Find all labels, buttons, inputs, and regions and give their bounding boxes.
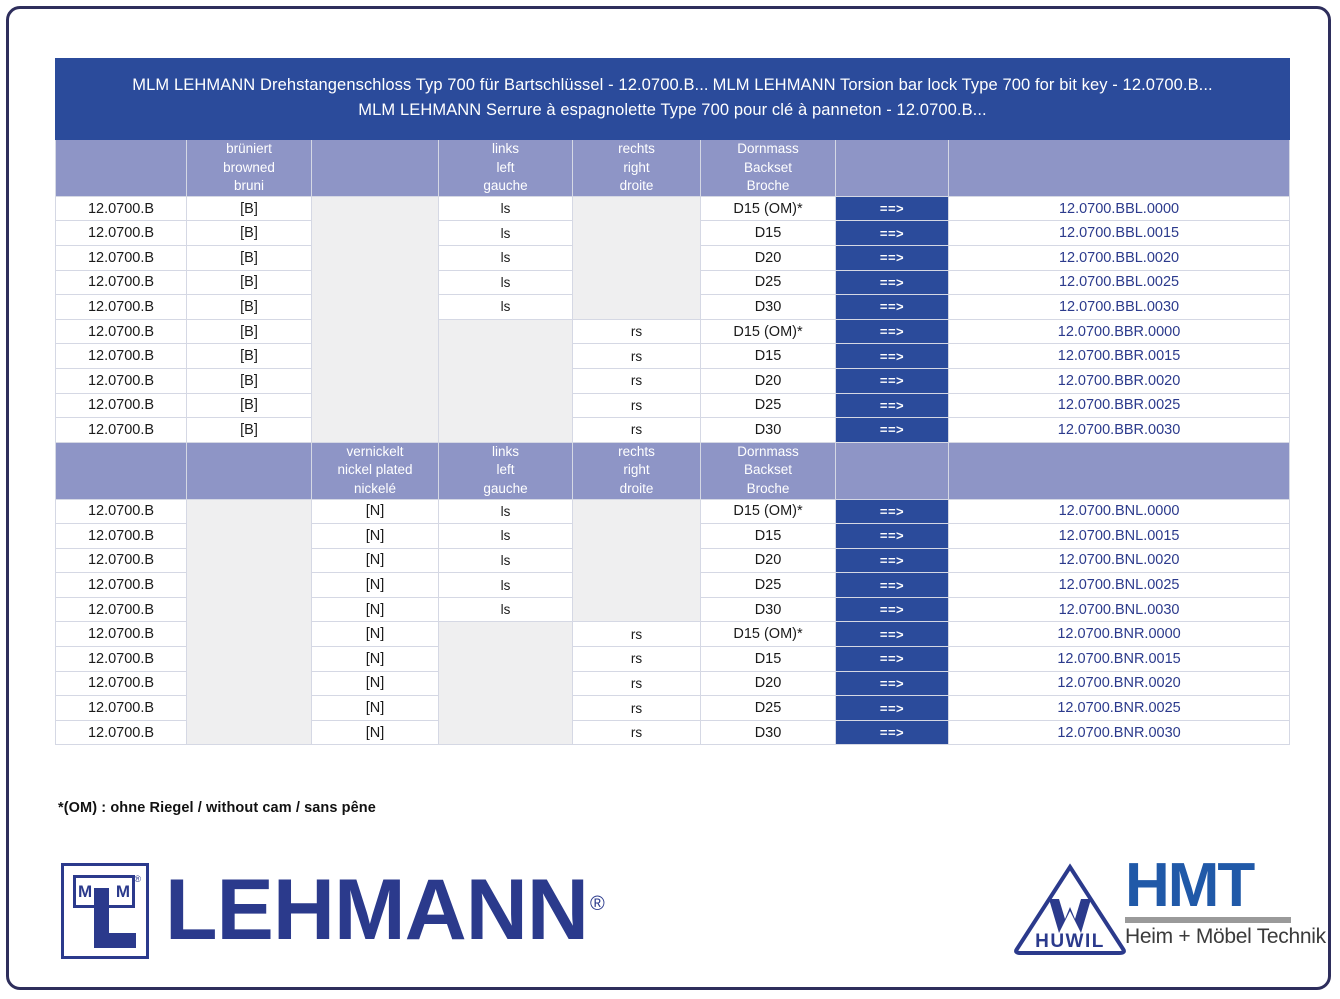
header-cell-arrow-blank-s2 [836,442,949,499]
cell-backset: D15 [701,344,836,369]
cell-article: 12.0700.B [56,499,187,524]
cell-side-right: rs [573,696,701,721]
hmt-wordmark-text: HMT [1125,857,1291,916]
cell-article: 12.0700.B [56,393,187,418]
header-cell-finish-nickel: vernickelt nickel plated nickelé [312,442,439,499]
cell-backset: D25 [701,696,836,721]
header-cell-right-s2: rechts right droite [573,442,701,499]
header-backset-fr: Broche [701,177,835,196]
cell-backset: D25 [701,393,836,418]
cell-article: 12.0700.B [56,647,187,672]
table-row: 12.0700.B [B] rs D15 ==> 12.0700.BBR.001… [56,344,1290,369]
table-row: 12.0700.B [B] rs D25 ==> 12.0700.BBR.002… [56,393,1290,418]
cell-side-right: rs [573,368,701,393]
cell-backset: D20 [701,548,836,573]
cell-finish-code: [B] [187,344,312,369]
cell-backset: D30 [701,418,836,443]
table-row: 12.0700.B [B] rs D15 (OM)* ==> 12.0700.B… [56,319,1290,344]
table-row: 12.0700.B [B] ls D15 (OM)* ==> 12.0700.B… [56,196,1290,221]
header-backset-de: Dornmass [701,140,835,159]
hmt-wordmark-block: HMT Heim + Möbel Technik [1125,857,1291,961]
header-right-en: right [573,461,700,480]
header-finish-de: brüniert [187,140,311,159]
cell-article: 12.0700.B [56,319,187,344]
header-cell-right-s1: rechts right droite [573,140,701,197]
goto-arrow-button[interactable]: ==> [836,597,949,622]
header-left-en: left [439,159,572,178]
cell-backset: D30 [701,720,836,745]
title-banner: MLM LEHMANN Drehstangenschloss Typ 700 f… [56,59,1290,140]
goto-arrow-button[interactable]: ==> [836,245,949,270]
header-left-de: links [439,140,572,159]
header-cell-backset-s2: Dornmass Backset Broche [701,442,836,499]
cell-full-article-code[interactable]: 12.0700.BBR.0015 [949,344,1290,369]
cell-right-inactive-s1 [573,196,701,319]
cell-finish-code: [N] [312,573,439,598]
cell-backset: D30 [701,597,836,622]
cell-full-article-code[interactable]: 12.0700.BNR.0030 [949,720,1290,745]
cell-article: 12.0700.B [56,622,187,647]
cell-full-article-code[interactable]: 12.0700.BNL.0000 [949,499,1290,524]
section-header-nickel: vernickelt nickel plated nickelé links l… [56,442,1290,499]
title-line-de: MLM LEHMANN Drehstangenschloss Typ 700 f… [132,76,708,94]
cell-full-article-code[interactable]: 12.0700.BNL.0025 [949,573,1290,598]
cell-article: 12.0700.B [56,245,187,270]
header-backset-en: Backset [701,159,835,178]
cell-full-article-code[interactable]: 12.0700.BNR.0020 [949,671,1290,696]
header-backset-en: Backset [701,461,835,480]
cell-finish-code: [B] [187,368,312,393]
cell-article: 12.0700.B [56,671,187,696]
cell-article: 12.0700.B [56,270,187,295]
cell-full-article-code[interactable]: 12.0700.BBR.0000 [949,319,1290,344]
header-left-fr: gauche [439,480,572,499]
goto-arrow-button[interactable]: ==> [836,622,949,647]
hmt-tagline-text: Heim + Möbel Technik [1125,925,1291,949]
mlm-letter-m-left: M [78,883,92,900]
goto-arrow-button[interactable]: ==> [836,319,949,344]
goto-arrow-button[interactable]: ==> [836,418,949,443]
product-configuration-table: MLM LEHMANN Drehstangenschloss Typ 700 f… [55,58,1290,745]
table-row: 12.0700.B [N] ls D15 (OM)* ==> 12.0700.B… [56,499,1290,524]
cell-finish-code: [N] [312,696,439,721]
goto-arrow-button[interactable]: ==> [836,524,949,549]
huwil-word-text: HUWIL [1035,931,1105,952]
cell-finish-code: [N] [312,671,439,696]
cell-side-left: ls [439,245,573,270]
cell-finish-code: [N] [312,647,439,672]
cell-article: 12.0700.B [56,720,187,745]
cell-backset: D15 [701,647,836,672]
cell-backset: D15 (OM)* [701,196,836,221]
mlm-letter-l-horizontal [94,933,136,948]
cell-finish-code: [N] [312,499,439,524]
header-cell-finish-nickel-blank [312,140,439,197]
cell-article: 12.0700.B [56,295,187,320]
footnote-om-explanation: *(OM) : ohne Riegel / without cam / sans… [58,800,376,816]
cell-finish-code: [N] [312,622,439,647]
header-cell-finish-browned: brüniert browned bruni [187,140,312,197]
cell-finish-code: [N] [312,597,439,622]
header-cell-finish-browned-blank-s2 [187,442,312,499]
cell-finish-code: [N] [312,524,439,549]
header-finish-en: nickel plated [312,461,438,480]
cell-backset: D25 [701,270,836,295]
title-line-en: MLM LEHMANN Torsion bar lock Type 700 fo… [713,76,1213,94]
cell-side-right: rs [573,319,701,344]
cell-finish-code: [N] [312,720,439,745]
cell-full-article-code[interactable]: 12.0700.BBL.0000 [949,196,1290,221]
header-left-en: left [439,461,572,480]
goto-arrow-button[interactable]: ==> [836,344,949,369]
cell-side-right: rs [573,393,701,418]
cell-full-article-code[interactable]: 12.0700.BBL.0015 [949,221,1290,246]
cell-backset: D20 [701,368,836,393]
header-right-fr: droite [573,480,700,499]
goto-arrow-button[interactable]: ==> [836,548,949,573]
cell-article: 12.0700.B [56,597,187,622]
lehmann-wordmark-text: LEHMANN® [165,874,604,947]
cell-full-article-code[interactable]: 12.0700.BBR.0020 [949,368,1290,393]
header-right-de: rechts [573,443,700,462]
header-cell-article-blank [56,140,187,197]
cell-article: 12.0700.B [56,221,187,246]
goto-arrow-button[interactable]: ==> [836,720,949,745]
cell-backset: D20 [701,245,836,270]
huwil-triangle-icon: HUWIL [1011,861,1129,957]
cell-full-article-code[interactable]: 12.0700.BBL.0025 [949,270,1290,295]
cell-side-right: rs [573,622,701,647]
section-header-browned: brüniert browned bruni links left gauche… [56,140,1290,197]
goto-arrow-button[interactable]: ==> [836,295,949,320]
header-finish-en: browned [187,159,311,178]
cell-article: 12.0700.B [56,196,187,221]
cell-article: 12.0700.B [56,418,187,443]
header-left-de: links [439,443,572,462]
cell-finish-code: [B] [187,319,312,344]
cell-full-article-code[interactable]: 12.0700.BBL.0020 [949,245,1290,270]
cell-article: 12.0700.B [56,368,187,393]
goto-arrow-button[interactable]: ==> [836,196,949,221]
table-row: 12.0700.B [B] rs D30 ==> 12.0700.BBR.003… [56,418,1290,443]
cell-browned-inactive-s2 [187,499,312,745]
cell-full-article-code[interactable]: 12.0700.BBL.0030 [949,295,1290,320]
cell-backset: D15 (OM)* [701,622,836,647]
goto-arrow-button[interactable]: ==> [836,647,949,672]
cell-side-left: ls [439,548,573,573]
cell-full-article-code[interactable]: 12.0700.BNR.0000 [949,622,1290,647]
cell-backset: D20 [701,671,836,696]
cell-full-article-code[interactable]: 12.0700.BBR.0030 [949,418,1290,443]
header-right-fr: droite [573,177,700,196]
cell-finish-code: [B] [187,418,312,443]
cell-full-article-code[interactable]: 12.0700.BNL.0015 [949,524,1290,549]
cell-backset: D15 [701,524,836,549]
lehmann-wordmark-letters: LEHMANN [165,862,588,958]
mlm-registered-mark: ® [134,874,141,884]
header-backset-de: Dornmass [701,443,835,462]
mlm-letter-m-right: M [116,883,130,900]
cell-side-left: ls [439,524,573,549]
goto-arrow-button[interactable]: ==> [836,671,949,696]
cell-side-right: rs [573,671,701,696]
cell-article: 12.0700.B [56,524,187,549]
cell-backset: D15 (OM)* [701,499,836,524]
cell-finish-code: [B] [187,221,312,246]
goto-arrow-button[interactable]: ==> [836,270,949,295]
goto-arrow-button[interactable]: ==> [836,368,949,393]
cell-side-left: ls [439,499,573,524]
cell-right-inactive-s2 [573,499,701,622]
cell-finish-code: [B] [187,196,312,221]
cell-side-right: rs [573,344,701,369]
table-row: 12.0700.B [B] rs D20 ==> 12.0700.BBR.002… [56,368,1290,393]
header-cell-arrow-blank-s1 [836,140,949,197]
cell-backset: D30 [701,295,836,320]
cell-backset: D15 [701,221,836,246]
cell-full-article-code[interactable]: 12.0700.BBR.0025 [949,393,1290,418]
cell-left-inactive-s1 [439,319,573,442]
cell-side-right: rs [573,418,701,443]
header-backset-fr: Broche [701,480,835,499]
goto-arrow-button[interactable]: ==> [836,499,949,524]
cell-side-left: ls [439,196,573,221]
header-finish-de: vernickelt [312,443,438,462]
header-cell-article-blank-s2 [56,442,187,499]
cell-side-left: ls [439,221,573,246]
cell-full-article-code[interactable]: 12.0700.BNL.0020 [949,548,1290,573]
header-finish-fr: bruni [187,177,311,196]
cell-side-right: rs [573,720,701,745]
cell-article: 12.0700.B [56,573,187,598]
header-cell-left-s2: links left gauche [439,442,573,499]
header-cell-fullcode-blank-s1 [949,140,1290,197]
header-right-en: right [573,159,700,178]
cell-finish-code: [B] [187,393,312,418]
cell-full-article-code[interactable]: 12.0700.BNL.0030 [949,597,1290,622]
cell-side-right: rs [573,647,701,672]
cell-finish-code: [B] [187,270,312,295]
lehmann-mlm-mark-icon: M M ® [61,863,149,959]
header-cell-left-s1: links left gauche [439,140,573,197]
cell-side-left: ls [439,295,573,320]
goto-arrow-button[interactable]: ==> [836,221,949,246]
cell-backset: D15 (OM)* [701,319,836,344]
lehmann-logo: M M ® LEHMANN® [61,859,604,963]
lehmann-registered-mark: ® [590,893,604,915]
header-cell-fullcode-blank-s2 [949,442,1290,499]
goto-arrow-button[interactable]: ==> [836,393,949,418]
cell-article: 12.0700.B [56,696,187,721]
hmt-logo: HUWIL HMT Heim + Möbel Technik [1011,857,1289,963]
cell-backset: D25 [701,573,836,598]
cell-side-left: ls [439,573,573,598]
header-right-de: rechts [573,140,700,159]
cell-nickel-inactive-s1 [312,196,439,442]
cell-left-inactive-s2 [439,622,573,745]
header-left-fr: gauche [439,177,572,196]
header-finish-fr: nickelé [312,480,438,499]
page-frame: MLM LEHMANN Drehstangenschloss Typ 700 f… [6,6,1331,990]
goto-arrow-button[interactable]: ==> [836,696,949,721]
cell-finish-code: [B] [187,245,312,270]
cell-full-article-code[interactable]: 12.0700.BNR.0025 [949,696,1290,721]
cell-finish-code: [N] [312,548,439,573]
cell-side-left: ls [439,597,573,622]
header-cell-backset-s1: Dornmass Backset Broche [701,140,836,197]
cell-article: 12.0700.B [56,548,187,573]
cell-finish-code: [B] [187,295,312,320]
table-title-row: MLM LEHMANN Drehstangenschloss Typ 700 f… [56,59,1290,140]
cell-full-article-code[interactable]: 12.0700.BNR.0015 [949,647,1290,672]
goto-arrow-button[interactable]: ==> [836,573,949,598]
cell-side-left: ls [439,270,573,295]
title-line-fr: MLM LEHMANN Serrure à espagnolette Type … [358,101,986,119]
cell-article: 12.0700.B [56,344,187,369]
